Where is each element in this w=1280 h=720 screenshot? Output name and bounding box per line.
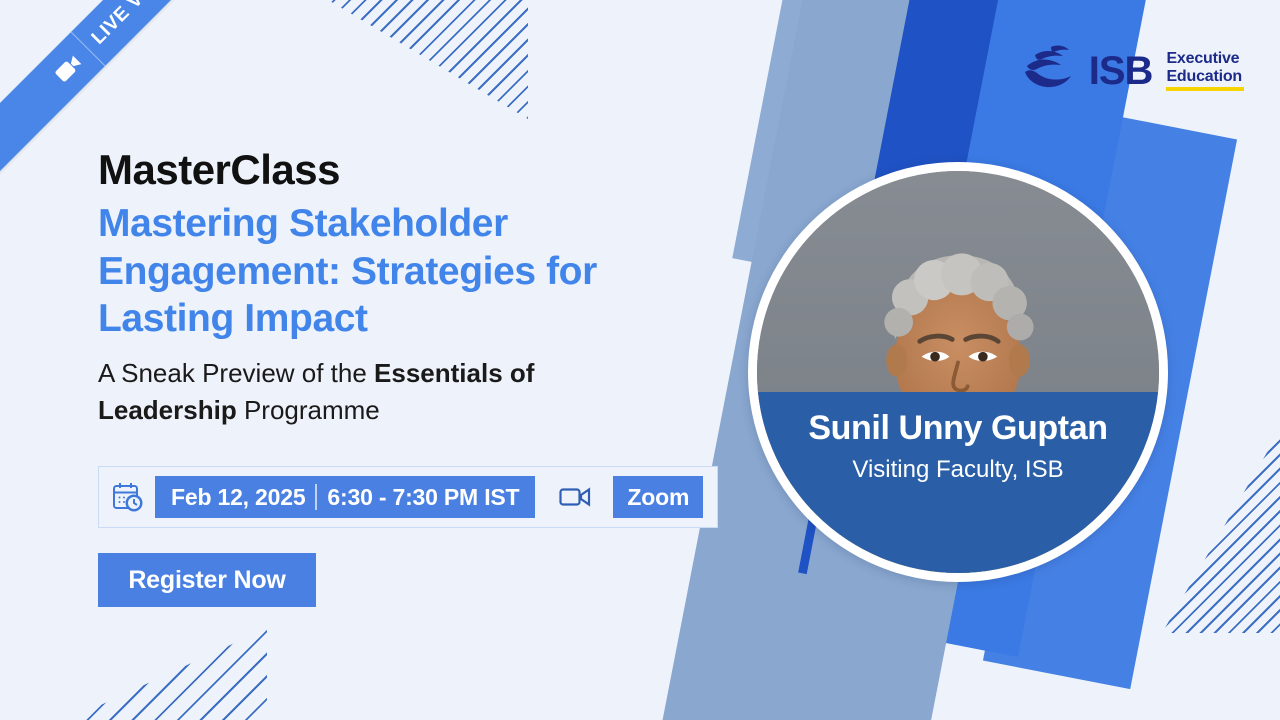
subheading: A Sneak Preview of the Essentials of Lea… (98, 355, 663, 430)
event-date: Feb 12, 2025 (171, 484, 305, 511)
subheading-prefix: A Sneak Preview of the (98, 358, 374, 388)
headline-block: MasterClass Mastering Stakeholder Engage… (98, 148, 738, 430)
event-info-bar: Feb 12, 2025 6:30 - 7:30 PM IST Zoom (98, 466, 718, 528)
pill-separator (315, 484, 317, 510)
isb-tagline-line2: Education (1166, 68, 1242, 86)
speaker-role: Visiting Faculty, ISB (852, 456, 1063, 485)
datetime-pill: Feb 12, 2025 6:30 - 7:30 PM IST (155, 476, 535, 518)
hatch-pattern-bottom-left (62, 628, 267, 720)
isb-tagline: Executive Education (1166, 50, 1242, 91)
platform-pill: Zoom (613, 476, 703, 518)
isb-wordmark: ISB (1089, 51, 1153, 91)
isb-tagline-line1: Executive (1166, 50, 1242, 68)
register-now-button[interactable]: Register Now (98, 553, 316, 607)
event-time: 6:30 - 7:30 PM IST (327, 484, 519, 511)
speaker-photo-frame: Sunil Unny Guptan Visiting Faculty, ISB (757, 171, 1159, 573)
ribbon-label: LIVE VIRTUAL (81, 0, 212, 56)
eyebrow-masterclass: MasterClass (98, 148, 738, 192)
video-camera-outline-icon (559, 486, 591, 508)
isb-logo: ISB Executive Education (1021, 42, 1242, 99)
hatch-pattern-right (1162, 418, 1280, 633)
speaker-name: Sunil Unny Guptan (808, 410, 1107, 447)
page-title: Mastering Stakeholder Engagement: Strate… (98, 200, 678, 343)
hatch-pattern-top (318, 0, 528, 119)
isb-wave-mark-icon (1021, 42, 1079, 99)
speaker-name-band: Sunil Unny Guptan Visiting Faculty, ISB (757, 392, 1159, 573)
speaker-card: Sunil Unny Guptan Visiting Faculty, ISB (748, 162, 1168, 582)
promo-banner: LIVE VIRTUAL MasterClass Mastering Stake… (0, 0, 1280, 720)
subheading-suffix: Programme (237, 395, 380, 425)
calendar-clock-icon (111, 480, 145, 514)
isb-tagline-underline (1166, 87, 1244, 91)
video-camera-icon (43, 43, 94, 94)
